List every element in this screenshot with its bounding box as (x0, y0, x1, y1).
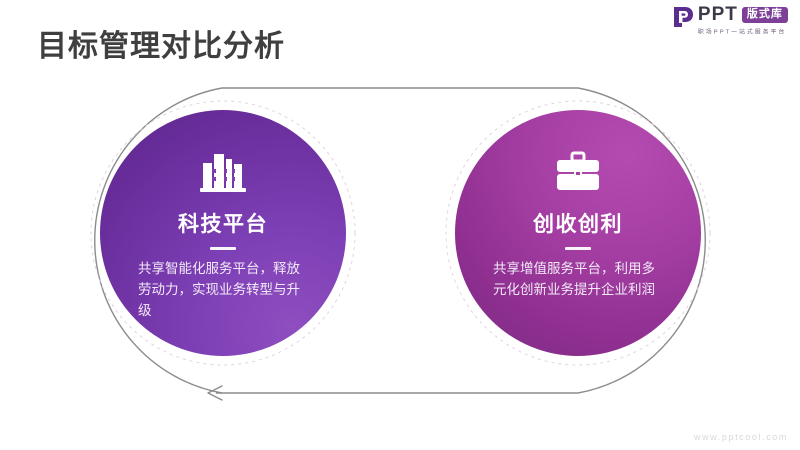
node-left-description: 共享智能化服务平台，释放劳动力，实现业务转型与升级 (138, 258, 308, 321)
node-left-divider (210, 247, 236, 250)
node-left[interactable]: 科技平台 共享智能化服务平台，释放劳动力，实现业务转型与升级 (100, 110, 346, 356)
node-left-title: 科技平台 (178, 208, 268, 238)
slide-canvas: 目标管理对比分析 PPT 版式库 职场PPT一站式服务平台 (0, 0, 800, 450)
buildings-icon (199, 150, 247, 194)
node-right-title: 创收创利 (533, 208, 623, 238)
node-right-divider (565, 247, 591, 250)
watermark: www.pptcool.com (694, 432, 788, 442)
briefcase-icon (554, 150, 602, 194)
node-right[interactable]: 创收创利 共享增值服务平台，利用多元化创新业务提升企业利润 (455, 110, 701, 356)
node-right-description: 共享增值服务平台，利用多元化创新业务提升企业利润 (493, 258, 663, 300)
